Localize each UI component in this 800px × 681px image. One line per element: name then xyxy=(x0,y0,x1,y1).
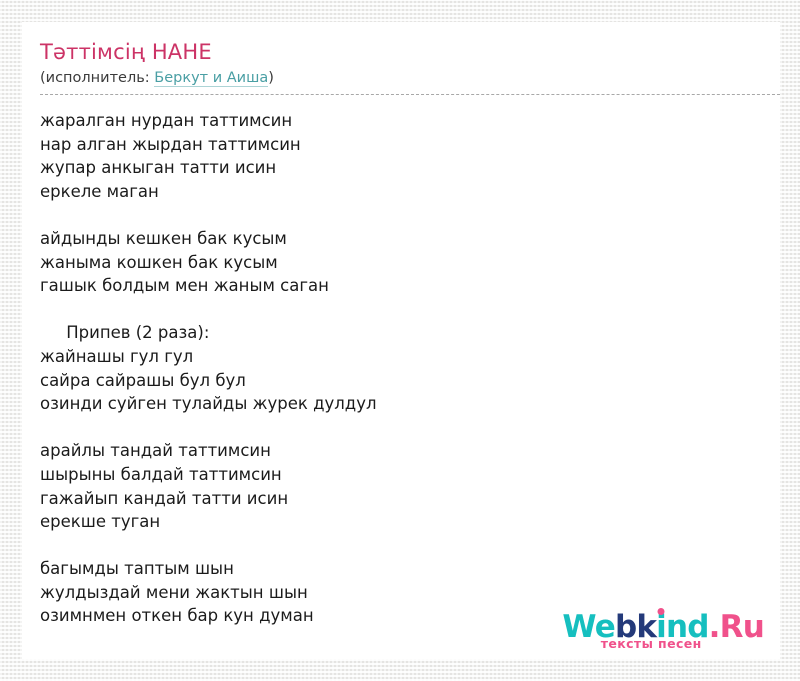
lyric-line: гашык болдым мен жаным саган xyxy=(40,274,766,298)
logo-letter-i: i xyxy=(656,609,666,645)
logo-dot-icon xyxy=(658,608,665,615)
lyric-line: жупар анкыган татти исин xyxy=(40,156,766,180)
lyric-blank-line xyxy=(40,416,766,440)
lyric-line: багымды таптым шын xyxy=(40,557,766,581)
lyric-line: жаралган нурдан таттимсин xyxy=(40,109,766,133)
lyric-blank-line xyxy=(40,298,766,322)
page-inner: Тәттімсің НАНЕ (исполнитель: Беркут и Аи… xyxy=(40,38,766,628)
lyric-line: гажайып кандай татти исин xyxy=(40,487,766,511)
lyric-line: нар алган жырдан таттимсин xyxy=(40,133,766,157)
header-divider xyxy=(40,94,780,95)
lyric-line: ерекше туган xyxy=(40,510,766,534)
lyric-line: арайлы тандай таттимсин xyxy=(40,439,766,463)
page-title: Тәттімсің НАНЕ xyxy=(40,38,766,68)
lyric-line: еркеле маган xyxy=(40,180,766,204)
lyric-blank-line xyxy=(40,203,766,227)
lyric-line: озинди суйген тулайды журек дулдул xyxy=(40,392,766,416)
lyric-line: жулдыздай мени жактын шын xyxy=(40,581,766,605)
lyric-blank-line xyxy=(40,534,766,558)
lyric-line: жаныма кошкен бак кусым xyxy=(40,251,766,275)
lyric-line: шырыны балдай таттимсин xyxy=(40,463,766,487)
logo-dot-separator: . xyxy=(709,609,720,645)
lyric-line: Припев (2 раза): xyxy=(40,321,766,345)
logo-letter-w: W xyxy=(562,609,594,645)
site-watermark: Webkind.Ru тексты песен xyxy=(562,611,764,651)
lyric-line: сайра сайрашы бул бул xyxy=(40,369,766,393)
performer-line: (исполнитель: Беркут и Аиша) xyxy=(40,68,766,94)
logo-tld-ru: Ru xyxy=(720,609,764,645)
lyric-line: айдынды кешкен бак кусым xyxy=(40,227,766,251)
content-card: Тәттімсің НАНЕ (исполнитель: Беркут и Аи… xyxy=(22,22,780,659)
performer-prefix-label: (исполнитель: xyxy=(40,70,154,86)
performer-suffix-label: ) xyxy=(268,70,274,86)
lyrics-body: жаралган нурдан таттимсиннар алган жырда… xyxy=(40,109,766,628)
webkind-logo: Webkind.Ru xyxy=(562,611,764,643)
lyric-line: жайнашы гул гул xyxy=(40,345,766,369)
performer-link[interactable]: Беркут и Аиша xyxy=(154,70,268,87)
